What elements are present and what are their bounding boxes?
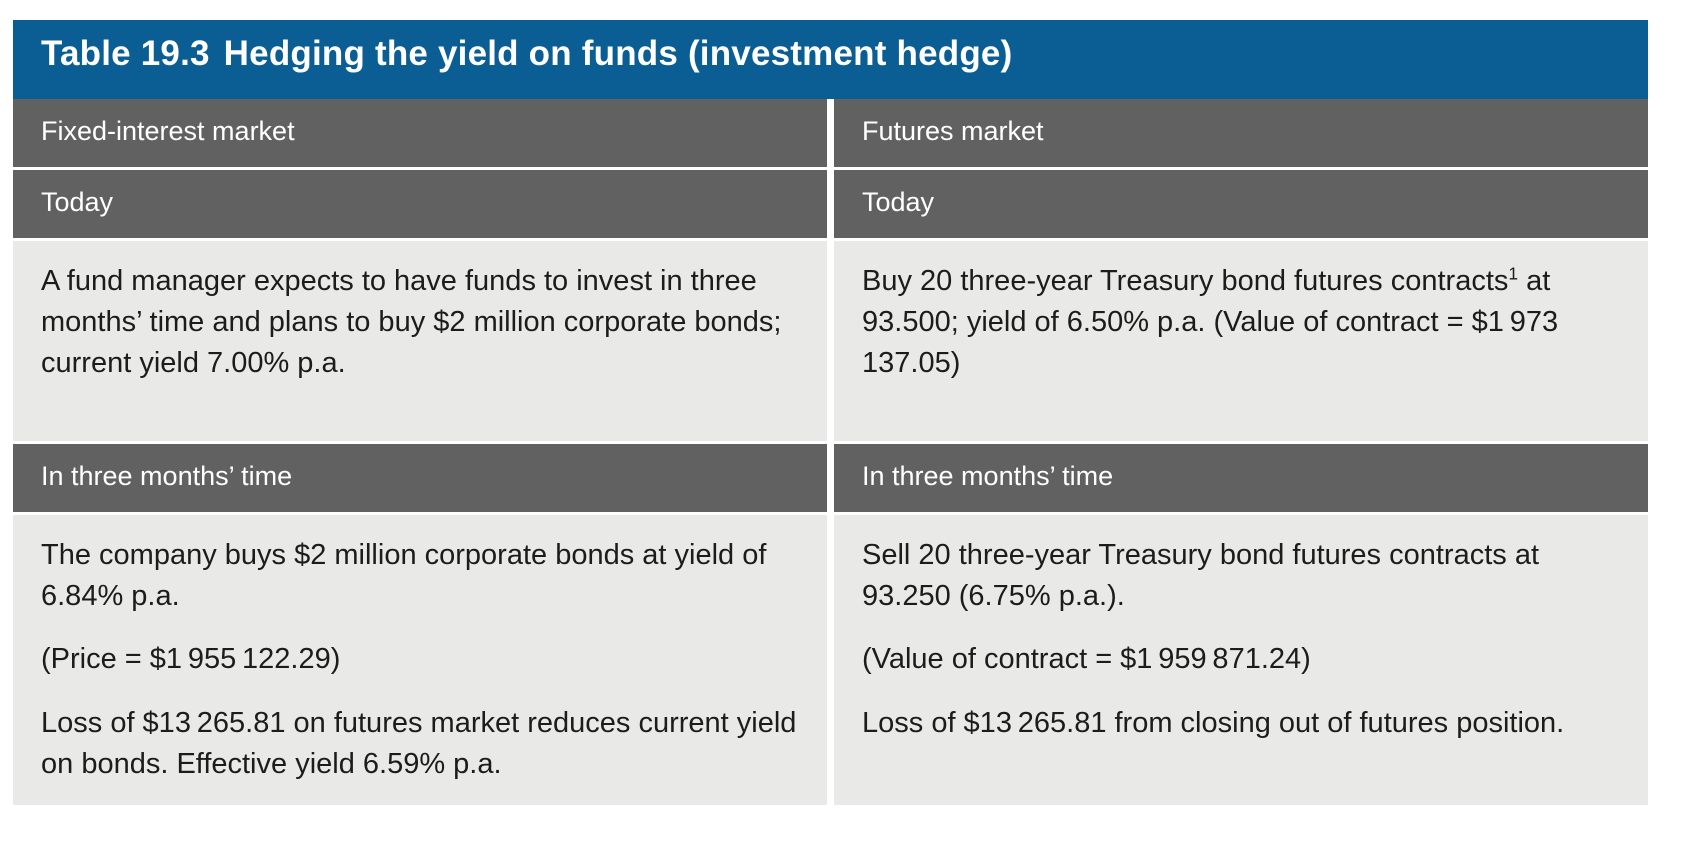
section-label-three-months-left: In three months’ time — [13, 444, 827, 512]
paragraph: The company buys $2 million corporate bo… — [41, 535, 801, 617]
column-divider — [827, 170, 834, 238]
cell-today-futures: Buy 20 three-year Treasury bond futures … — [834, 241, 1648, 441]
section-body-three-months: The company buys $2 million corporate bo… — [13, 515, 1648, 805]
paragraph: Buy 20 three-year Treasury bond futures … — [862, 261, 1622, 385]
column-header-futures-market: Futures market — [834, 99, 1648, 167]
column-divider — [827, 99, 834, 167]
section-label-today-right: Today — [834, 170, 1648, 238]
column-header-row: Fixed-interest market Futures market — [13, 99, 1648, 167]
table-title-bar: Table 19.3Hedging the yield on funds (in… — [13, 20, 1648, 99]
table-19-3: Table 19.3Hedging the yield on funds (in… — [13, 20, 1648, 805]
cell-three-months-futures: Sell 20 three-year Treasury bond futures… — [834, 515, 1648, 805]
column-divider — [827, 515, 834, 805]
section-label-today-left: Today — [13, 170, 827, 238]
column-divider — [827, 444, 834, 512]
paragraph: Sell 20 three-year Treasury bond futures… — [862, 535, 1622, 617]
column-divider — [827, 241, 834, 441]
paragraph: Loss of $13 265.81 from closing out of f… — [862, 703, 1622, 744]
cell-three-months-fixed-interest: The company buys $2 million corporate bo… — [13, 515, 827, 805]
footnote-marker: 1 — [1508, 263, 1518, 283]
futures-contracts-lead: Buy 20 three-year Treasury bond futures — [862, 265, 1383, 297]
paragraph: Loss of $13 265.81 on futures market red… — [41, 703, 801, 785]
paragraph: A fund manager expects to have funds to … — [41, 261, 801, 385]
section-body-today: A fund manager expects to have funds to … — [13, 241, 1648, 441]
table-caption: Hedging the yield on funds (investment h… — [224, 34, 1013, 73]
section-header-today: Today Today — [13, 170, 1648, 238]
contracts-word: contracts — [1391, 265, 1509, 297]
section-header-three-months: In three months’ time In three months’ t… — [13, 444, 1648, 512]
column-header-fixed-interest-market: Fixed-interest market — [13, 99, 827, 167]
cell-today-fixed-interest: A fund manager expects to have funds to … — [13, 241, 827, 441]
section-label-three-months-right: In three months’ time — [834, 444, 1648, 512]
paragraph: (Price = $1 955 122.29) — [41, 639, 801, 680]
table-number: Table 19.3 — [41, 34, 210, 73]
paragraph: (Value of contract = $1 959 871.24) — [862, 639, 1622, 680]
